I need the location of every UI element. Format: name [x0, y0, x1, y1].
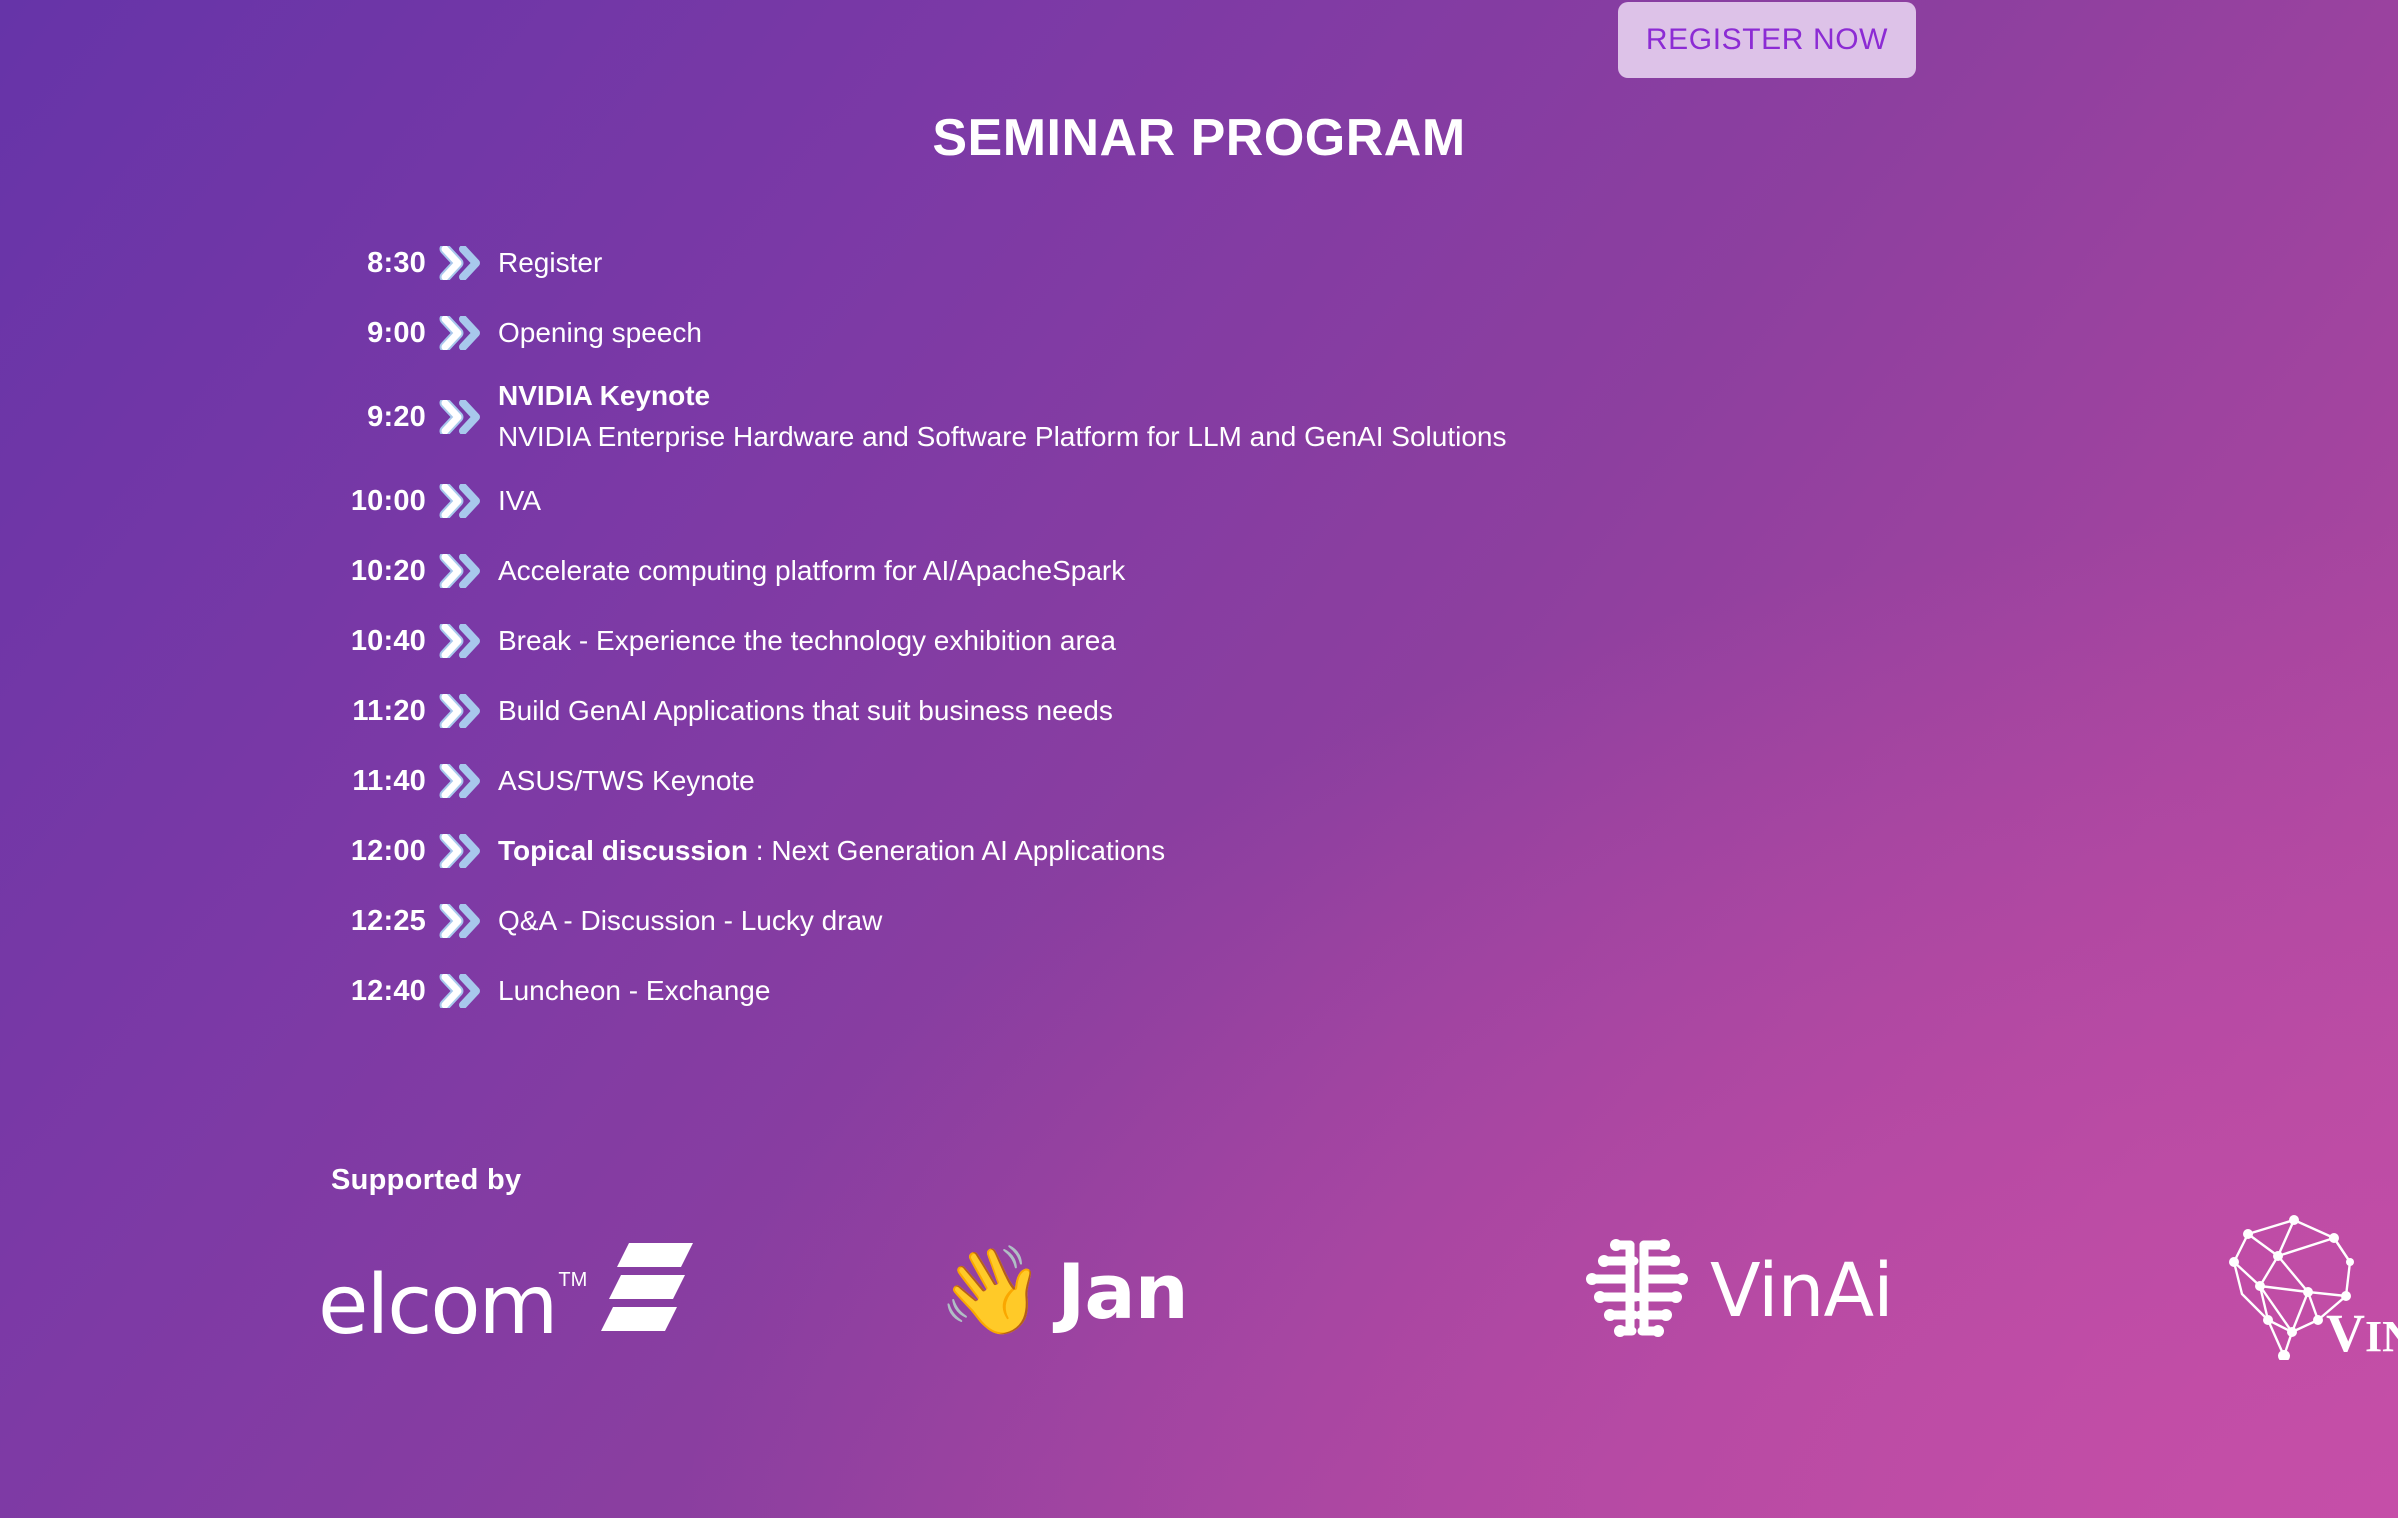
- sponsor-logo-elcom: elcom TM: [300, 1216, 808, 1366]
- schedule-time: 9:00: [330, 298, 426, 368]
- schedule-title: Topical discussion: [498, 835, 748, 866]
- sponsor-logo-vinai: VinAi: [1418, 1216, 2048, 1366]
- schedule-title: ASUS/TWS Keynote: [498, 765, 755, 796]
- schedule-title: Luncheon - Exchange: [498, 975, 770, 1006]
- schedule-time: 10:00: [330, 466, 426, 536]
- vinai-wordmark: VinAi: [1710, 1248, 1893, 1334]
- seminar-program-slide: REGISTER NOW SEMINAR PROGRAM 8:30Registe…: [0, 0, 2398, 1518]
- schedule-row: 11:20Build GenAI Applications that suit …: [0, 676, 2398, 746]
- schedule-row: 12:25Q&A - Discussion - Lucky draw: [0, 886, 2398, 956]
- double-chevron-icon: [426, 956, 498, 1026]
- elcom-wordmark: elcom: [318, 1271, 556, 1342]
- vinai-circuit-icon: [1578, 1235, 1696, 1348]
- sponsor-logo-strip: elcom TM 👋 Jan: [300, 1216, 2200, 1366]
- double-chevron-icon: [426, 536, 498, 606]
- double-chevron-icon: [426, 676, 498, 746]
- schedule-list: 8:30Register9:00Opening speech9:20NVIDIA…: [0, 228, 2398, 1026]
- double-chevron-icon: [426, 228, 498, 298]
- schedule-text: Opening speech: [498, 298, 2398, 368]
- schedule-row: 9:20NVIDIA KeynoteNVIDIA Enterprise Hard…: [0, 368, 2398, 466]
- double-chevron-icon: [426, 298, 498, 368]
- double-chevron-icon: [426, 606, 498, 676]
- schedule-title: Opening speech: [498, 317, 702, 348]
- supported-by-label: Supported by: [331, 1164, 522, 1197]
- double-chevron-icon: [426, 816, 498, 886]
- schedule-row: 8:30Register: [0, 228, 2398, 298]
- double-chevron-icon: [426, 746, 498, 816]
- schedule-time: 10:40: [330, 606, 426, 676]
- schedule-time: 12:25: [330, 886, 426, 956]
- schedule-time: 12:00: [330, 816, 426, 886]
- schedule-title: Accelerate computing platform for AI/Apa…: [498, 555, 1125, 586]
- schedule-title: Break - Experience the technology exhibi…: [498, 625, 1116, 656]
- waving-hand-icon: 👋: [938, 1248, 1045, 1334]
- schedule-text: Luncheon - Exchange: [498, 956, 2398, 1026]
- schedule-time: 11:40: [330, 746, 426, 816]
- schedule-time: 11:20: [330, 676, 426, 746]
- schedule-text: Break - Experience the technology exhibi…: [498, 606, 2398, 676]
- schedule-row: 12:40Luncheon - Exchange: [0, 956, 2398, 1026]
- schedule-subtitle: NVIDIA Enterprise Hardware and Software …: [498, 417, 2398, 458]
- schedule-text: Topical discussion : Next Generation AI …: [498, 816, 2398, 886]
- schedule-title: Build GenAI Applications that suit busin…: [498, 695, 1113, 726]
- register-now-button[interactable]: REGISTER NOW: [1618, 2, 1916, 78]
- double-chevron-icon: [426, 886, 498, 956]
- schedule-text: Register: [498, 228, 2398, 298]
- schedule-text: Build GenAI Applications that suit busin…: [498, 676, 2398, 746]
- schedule-text: Q&A - Discussion - Lucky draw: [498, 886, 2398, 956]
- sponsor-logo-jan: 👋 Jan: [808, 1216, 1418, 1366]
- schedule-row: 11:40ASUS/TWS Keynote: [0, 746, 2398, 816]
- schedule-title: NVIDIA Keynote: [498, 376, 2398, 417]
- jan-wordmark: Jan: [1057, 1247, 1188, 1336]
- schedule-text: Accelerate computing platform for AI/Apa…: [498, 536, 2398, 606]
- schedule-row: 10:20Accelerate computing platform for A…: [0, 536, 2398, 606]
- schedule-row: 12:00Topical discussion : Next Generatio…: [0, 816, 2398, 886]
- schedule-time: 8:30: [330, 228, 426, 298]
- schedule-title: Register: [498, 247, 602, 278]
- schedule-title: IVA: [498, 485, 541, 516]
- schedule-text: ASUS/TWS Keynote: [498, 746, 2398, 816]
- sponsor-logo-vinbrain: VINBRAIN: [2048, 1216, 2398, 1366]
- vinbrain-wordmark: VINBRAIN: [2326, 1302, 2398, 1364]
- schedule-time: 10:20: [330, 536, 426, 606]
- schedule-row: 10:40Break - Experience the technology e…: [0, 606, 2398, 676]
- schedule-text: IVA: [498, 466, 2398, 536]
- schedule-row: 10:00IVA: [0, 466, 2398, 536]
- elcom-e-mark-icon: [599, 1241, 695, 1338]
- schedule-time: 12:40: [330, 956, 426, 1026]
- double-chevron-icon: [426, 368, 498, 466]
- schedule-text: NVIDIA KeynoteNVIDIA Enterprise Hardware…: [498, 368, 2398, 457]
- schedule-title: Q&A - Discussion - Lucky draw: [498, 905, 882, 936]
- double-chevron-icon: [426, 466, 498, 536]
- schedule-subtitle: : Next Generation AI Applications: [748, 835, 1165, 866]
- page-title: SEMINAR PROGRAM: [0, 112, 2398, 164]
- trademark-symbol: TM: [558, 1270, 587, 1290]
- schedule-time: 9:20: [330, 368, 426, 466]
- schedule-row: 9:00Opening speech: [0, 298, 2398, 368]
